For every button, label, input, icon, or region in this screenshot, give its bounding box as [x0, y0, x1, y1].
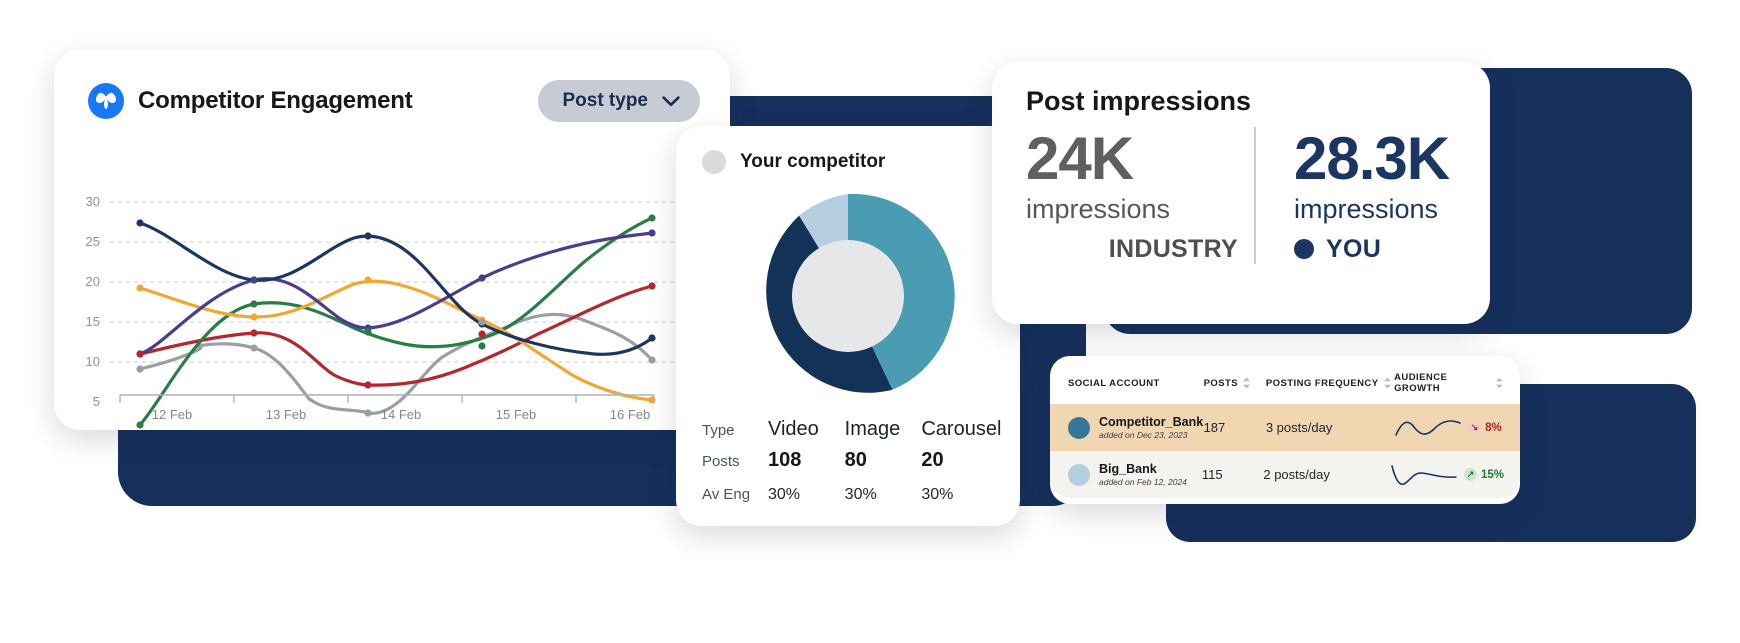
cell-posts-image: 80	[845, 449, 922, 472]
growth-cell: ↗ 15%	[1390, 462, 1504, 488]
post-type-label: Post type	[562, 90, 648, 112]
account-cell: Big_Bank added on Feb 12, 2024	[1068, 462, 1202, 487]
column-header-posts-label: POSTS	[1204, 378, 1238, 389]
account-text: Competitor_Bank added on Dec 23, 2023	[1099, 415, 1203, 440]
svg-text:25: 25	[86, 234, 100, 249]
avatar	[1068, 464, 1090, 486]
industry-unit: impressions	[1026, 193, 1244, 225]
table-header-row: SOCIAL ACCOUNT POSTS POSTING FREQUENCY A…	[1050, 356, 1520, 404]
donut-hole	[792, 240, 904, 352]
series-red	[140, 286, 652, 385]
account-cell: Competitor_Bank added on Dec 23, 2023	[1068, 415, 1204, 440]
engagement-line-chart: 30 25 20 15 10 5	[54, 168, 730, 430]
table-row[interactable]: Big_Bank added on Feb 12, 2024 115 2 pos…	[1050, 451, 1520, 498]
x-axis: 12 Feb 13 Feb 14 Feb 15 Feb 16 Feb	[54, 394, 730, 430]
account-added-date: added on Feb 12, 2024	[1099, 477, 1187, 487]
cell-eng-image: 30%	[845, 486, 922, 504]
cell-eng-video: 30%	[768, 486, 845, 504]
competitor-engagement-card: Competitor Engagement Post type	[54, 50, 730, 430]
post-type-donut-chart	[676, 184, 1020, 408]
frequency-cell: 2 posts/day	[1263, 467, 1390, 482]
sort-toggle-icon	[1242, 377, 1251, 389]
column-header-posting-frequency[interactable]: POSTING FREQUENCY	[1266, 377, 1394, 389]
cell-type-video: Video	[768, 418, 845, 449]
account-name: Competitor_Bank	[1099, 415, 1203, 429]
impressions-body: 24K impressions INDUSTRY 28.3K impressio…	[992, 117, 1490, 264]
row-label-posts: Posts	[702, 453, 768, 470]
posts-cell: 187	[1204, 420, 1266, 435]
posts-cell: 115	[1202, 467, 1264, 482]
table-row-type: Type Video Image Carousel	[702, 418, 998, 449]
frequency-cell: 3 posts/day	[1266, 420, 1394, 435]
column-header-audience-growth[interactable]: AUDIENCE GROWTH	[1394, 372, 1504, 394]
svg-text:15: 15	[86, 314, 100, 329]
series-purple	[140, 233, 652, 354]
industry-tag: INDUSTRY	[1026, 235, 1244, 264]
column-header-social-account-label: SOCIAL ACCOUNT	[1068, 378, 1160, 389]
you-value: 28.3K	[1294, 127, 1472, 191]
chevron-down-icon	[662, 96, 680, 107]
svg-text:16 Feb: 16 Feb	[610, 407, 650, 422]
table-row-av-eng: Av Eng 30% 30% 30%	[702, 486, 998, 504]
svg-text:30: 30	[86, 194, 100, 209]
you-tag: YOU	[1326, 235, 1381, 264]
arrow-up-right-icon: ↗	[1464, 468, 1477, 481]
growth-badge: ↗ 15%	[1464, 468, 1504, 481]
svg-text:20: 20	[86, 274, 100, 289]
cell-posts-video: 108	[768, 449, 845, 472]
donut-svg	[736, 184, 960, 408]
table-row-posts: Posts 108 80 20	[702, 449, 998, 472]
engagement-card-header: Competitor Engagement Post type	[54, 50, 730, 122]
arrow-down-right-icon: ↘	[1468, 421, 1481, 434]
post-type-breakdown-table: Type Video Image Carousel Posts 108 80 2…	[702, 418, 998, 504]
you-unit: impressions	[1294, 193, 1472, 225]
svg-text:15 Feb: 15 Feb	[496, 407, 536, 422]
row-label-type: Type	[702, 422, 768, 439]
you-bullet-icon	[1294, 239, 1314, 259]
x-axis-tick-labels: 12 Feb 13 Feb 14 Feb 15 Feb 16 Feb	[152, 407, 650, 422]
butterfly-logo-icon	[88, 83, 124, 119]
cell-eng-carousel: 30%	[921, 486, 998, 504]
cell-type-image: Image	[845, 418, 922, 449]
table-row[interactable]: Competitor_Bank added on Dec 23, 2023 18…	[1050, 404, 1520, 451]
svg-text:12 Feb: 12 Feb	[152, 407, 192, 422]
line-chart-svg: 30 25 20 15 10 5	[54, 168, 730, 430]
account-text: Big_Bank added on Feb 12, 2024	[1099, 462, 1187, 487]
social-accounts-table-card: SOCIAL ACCOUNT POSTS POSTING FREQUENCY A…	[1050, 356, 1520, 504]
column-header-posts[interactable]: POSTS	[1204, 377, 1266, 389]
sort-toggle-icon	[1383, 377, 1392, 389]
impressions-title: Post impressions	[992, 62, 1490, 117]
column-header-posting-frequency-label: POSTING FREQUENCY	[1266, 378, 1379, 389]
cell-posts-carousel: 20	[921, 449, 998, 472]
svg-text:14 Feb: 14 Feb	[381, 407, 421, 422]
column-header-social-account: SOCIAL ACCOUNT	[1068, 378, 1204, 389]
sparkline-chart	[1390, 462, 1458, 488]
post-impressions-card: Post impressions 24K impressions INDUSTR…	[992, 62, 1490, 324]
page-title: Competitor Engagement	[138, 87, 412, 115]
industry-value: 24K	[1026, 127, 1244, 191]
you-stat-column: 28.3K impressions YOU	[1254, 127, 1472, 264]
competitor-card-title: Your competitor	[740, 151, 885, 173]
you-tag-row: YOU	[1294, 235, 1472, 264]
growth-value: 8%	[1485, 422, 1502, 434]
svg-text:13 Feb: 13 Feb	[266, 407, 306, 422]
account-name: Big_Bank	[1099, 462, 1187, 476]
sparkline-chart	[1394, 415, 1462, 441]
column-header-audience-growth-label: AUDIENCE GROWTH	[1394, 372, 1491, 394]
post-type-dropdown[interactable]: Post type	[538, 80, 700, 122]
account-added-date: added on Dec 23, 2023	[1099, 430, 1203, 440]
series-navy	[140, 223, 652, 354]
avatar	[1068, 417, 1090, 439]
y-axis-tick-labels: 30 25 20 15 10 5	[86, 194, 100, 409]
growth-cell: ↘ 8%	[1394, 415, 1504, 441]
sort-toggle-icon	[1495, 377, 1504, 389]
your-competitor-card: Your competitor Type Video Image Carouse…	[676, 126, 1020, 526]
dashboard-collage: Competitor Engagement Post type	[0, 0, 1740, 643]
svg-text:10: 10	[86, 354, 100, 369]
row-label-av-eng: Av Eng	[702, 486, 768, 503]
cell-type-carousel: Carousel	[921, 418, 998, 449]
growth-badge: ↘ 8%	[1468, 421, 1502, 434]
competitor-color-swatch-icon	[702, 150, 726, 174]
competitor-card-header: Your competitor	[676, 126, 1020, 174]
industry-stat-column: 24K impressions INDUSTRY	[1026, 127, 1244, 264]
growth-value: 15%	[1481, 469, 1504, 481]
